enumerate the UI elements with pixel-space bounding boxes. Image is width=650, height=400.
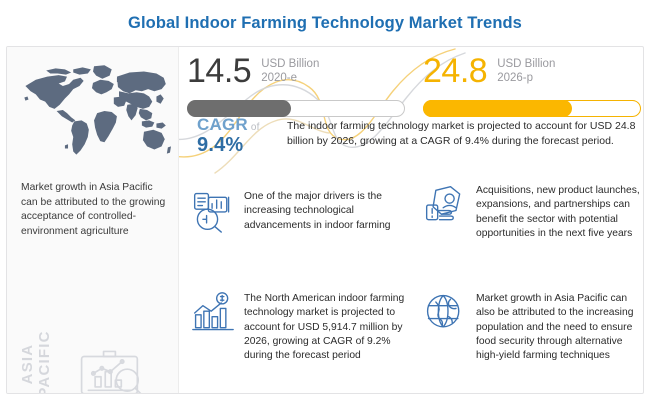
metric-2020: 14.5 USD Billion 2020-e xyxy=(187,53,405,117)
globe-icon xyxy=(423,291,467,335)
world-map-icon xyxy=(15,57,171,165)
cagr-value: 9.4% xyxy=(197,134,297,157)
cagr-block: CAGRof 9.4% xyxy=(197,115,297,157)
bullet-text: Market growth in Asia Pacific can also b… xyxy=(476,291,644,363)
metric-2026: 24.8 USD Billion 2026-p xyxy=(423,53,641,117)
sidebar-note: Market growth in Asia Pacific can be att… xyxy=(21,181,171,239)
metric-progress-fill xyxy=(423,100,572,117)
bullet-item: The North American indoor farming techno… xyxy=(191,291,415,363)
metric-unit-line2: 2020-e xyxy=(261,72,319,86)
page-title: Global Indoor Farming Technology Market … xyxy=(128,14,522,33)
metric-unit-line1: USD Billion xyxy=(261,58,319,72)
growth-chart-dollar-icon xyxy=(191,291,235,335)
bar-chart-search-icon xyxy=(191,189,235,233)
bullet-item: Market growth in Asia Pacific can also b… xyxy=(423,291,644,363)
bullet-text: The North American indoor farming techno… xyxy=(244,291,415,363)
cagr-of-text: of xyxy=(251,122,260,133)
bullet-grid: One of the major drivers is the increasi… xyxy=(179,183,644,394)
bullet-item: Acquisitions, new product launches, expa… xyxy=(423,183,644,241)
metric-progress-track xyxy=(423,100,641,117)
title-bar: Global Indoor Farming Technology Market … xyxy=(0,0,650,46)
metric-value: 14.5 xyxy=(187,53,251,89)
left-sidebar: Market growth in Asia Pacific can be att… xyxy=(7,47,179,394)
presentation-chart-search-icon xyxy=(69,343,155,394)
region-label: ASIA PACIFIC xyxy=(19,321,53,394)
content-area: 14.5 USD Billion 2020-e 24.8 USD Billion… xyxy=(179,47,644,394)
metric-unit-line1: USD Billion xyxy=(497,58,555,72)
bullet-text: One of the major drivers is the increasi… xyxy=(244,189,415,233)
metric-header: 24.8 USD Billion 2026-p xyxy=(423,53,641,97)
metric-unit: USD Billion 2020-e xyxy=(261,53,319,85)
bullet-text: Acquisitions, new product launches, expa… xyxy=(476,183,644,241)
handshake-deal-icon xyxy=(423,183,467,227)
metric-unit-line2: 2026-p xyxy=(497,72,555,86)
metric-unit: USD Billion 2026-p xyxy=(497,53,555,85)
cagr-label: CAGRof xyxy=(197,115,297,135)
metric-value: 24.8 xyxy=(423,53,487,89)
lead-description: The indoor farming technology market is … xyxy=(287,119,643,148)
infographic-panel: Market growth in Asia Pacific can be att… xyxy=(6,46,644,394)
cagr-label-text: CAGR xyxy=(197,115,248,134)
bullet-item: One of the major drivers is the increasi… xyxy=(191,189,415,233)
metric-header: 14.5 USD Billion 2020-e xyxy=(187,53,405,97)
